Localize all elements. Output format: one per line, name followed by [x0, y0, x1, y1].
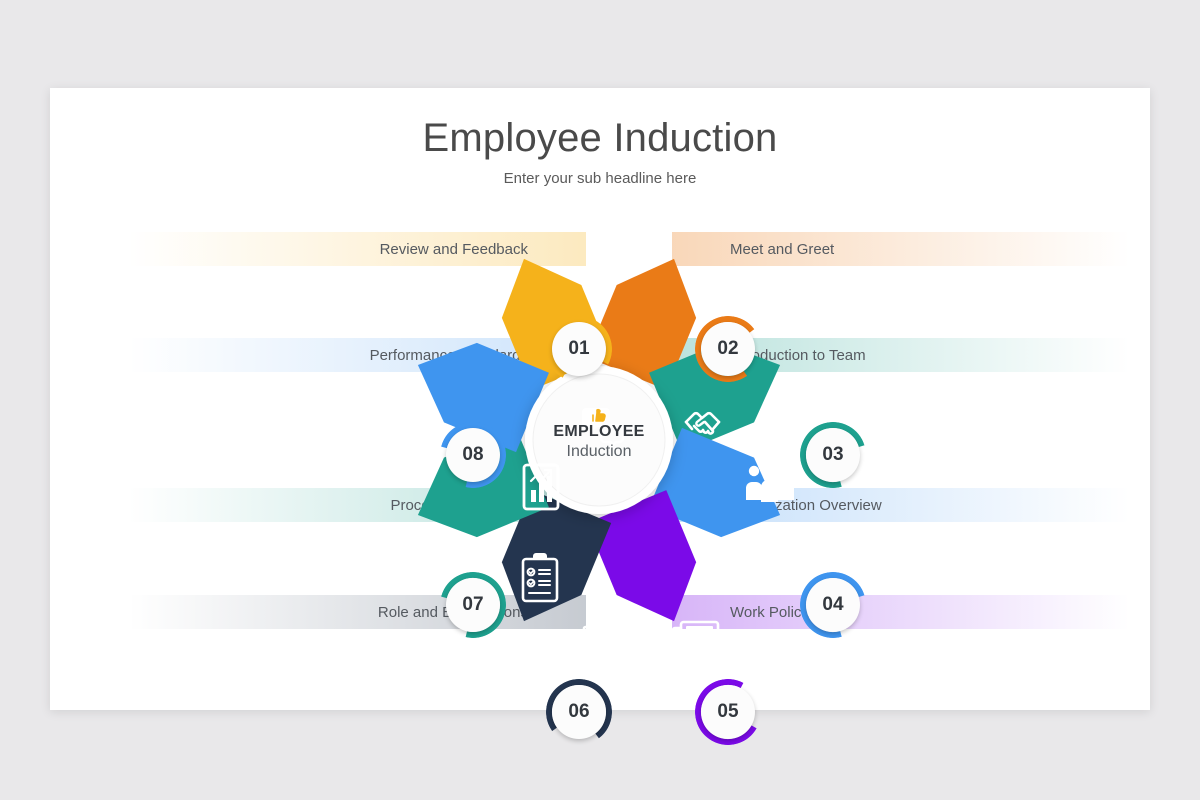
clipboard-checklist-icon	[523, 554, 557, 601]
step-number-06: 06	[568, 701, 589, 723]
step-number-08: 08	[462, 444, 483, 466]
hub-title: EMPLOYEE	[525, 423, 673, 441]
step-badge-03[interactable]: 03	[806, 428, 860, 482]
step-number-04: 04	[822, 594, 843, 616]
hub-text-block: EMPLOYEE Induction	[525, 423, 673, 461]
step-badge-01[interactable]: 01	[552, 322, 606, 376]
step-number-07: 07	[462, 594, 483, 616]
step-badge-04[interactable]: 04	[806, 578, 860, 632]
label-bar-02[interactable]: Meet and Greet	[672, 232, 1130, 266]
label-text-07: Process Compliance	[390, 497, 528, 514]
step-badge-06[interactable]: 06	[552, 685, 606, 739]
label-text-02: Meet and Greet	[730, 241, 834, 258]
handshake-icon	[686, 413, 719, 433]
step-badge-05[interactable]: 05	[701, 685, 755, 739]
label-bar-08[interactable]: Performance Standards	[128, 338, 586, 372]
label-bar-07[interactable]: Process Compliance	[128, 488, 586, 522]
label-text-01: Review and Feedback	[380, 241, 528, 258]
step-number-03: 03	[822, 444, 843, 466]
presentation-board-icon	[584, 621, 628, 672]
label-bar-05[interactable]: Work Policies	[672, 595, 1130, 629]
step-badge-08[interactable]: 08	[446, 428, 500, 482]
label-text-08: Performance Standards	[370, 347, 528, 364]
slide-canvas: Employee Induction Enter your sub headli…	[50, 88, 1150, 710]
label-bar-01[interactable]: Review and Feedback	[128, 232, 586, 266]
infographic-wheel: Review and Feedback Meet and Greet Intro…	[50, 88, 1150, 710]
hub-subtitle: Induction	[525, 443, 673, 461]
org-chart-icon	[746, 540, 792, 582]
step-number-01: 01	[568, 338, 589, 360]
step-badge-02[interactable]: 02	[701, 322, 755, 376]
label-text-04: Organization Overview	[730, 497, 882, 514]
step-number-05: 05	[717, 701, 738, 723]
label-bar-04[interactable]: Organization Overview	[672, 488, 1130, 522]
step-badge-07[interactable]: 07	[446, 578, 500, 632]
label-bar-06[interactable]: Role and Expectations	[128, 595, 586, 629]
step-number-02: 02	[717, 338, 738, 360]
